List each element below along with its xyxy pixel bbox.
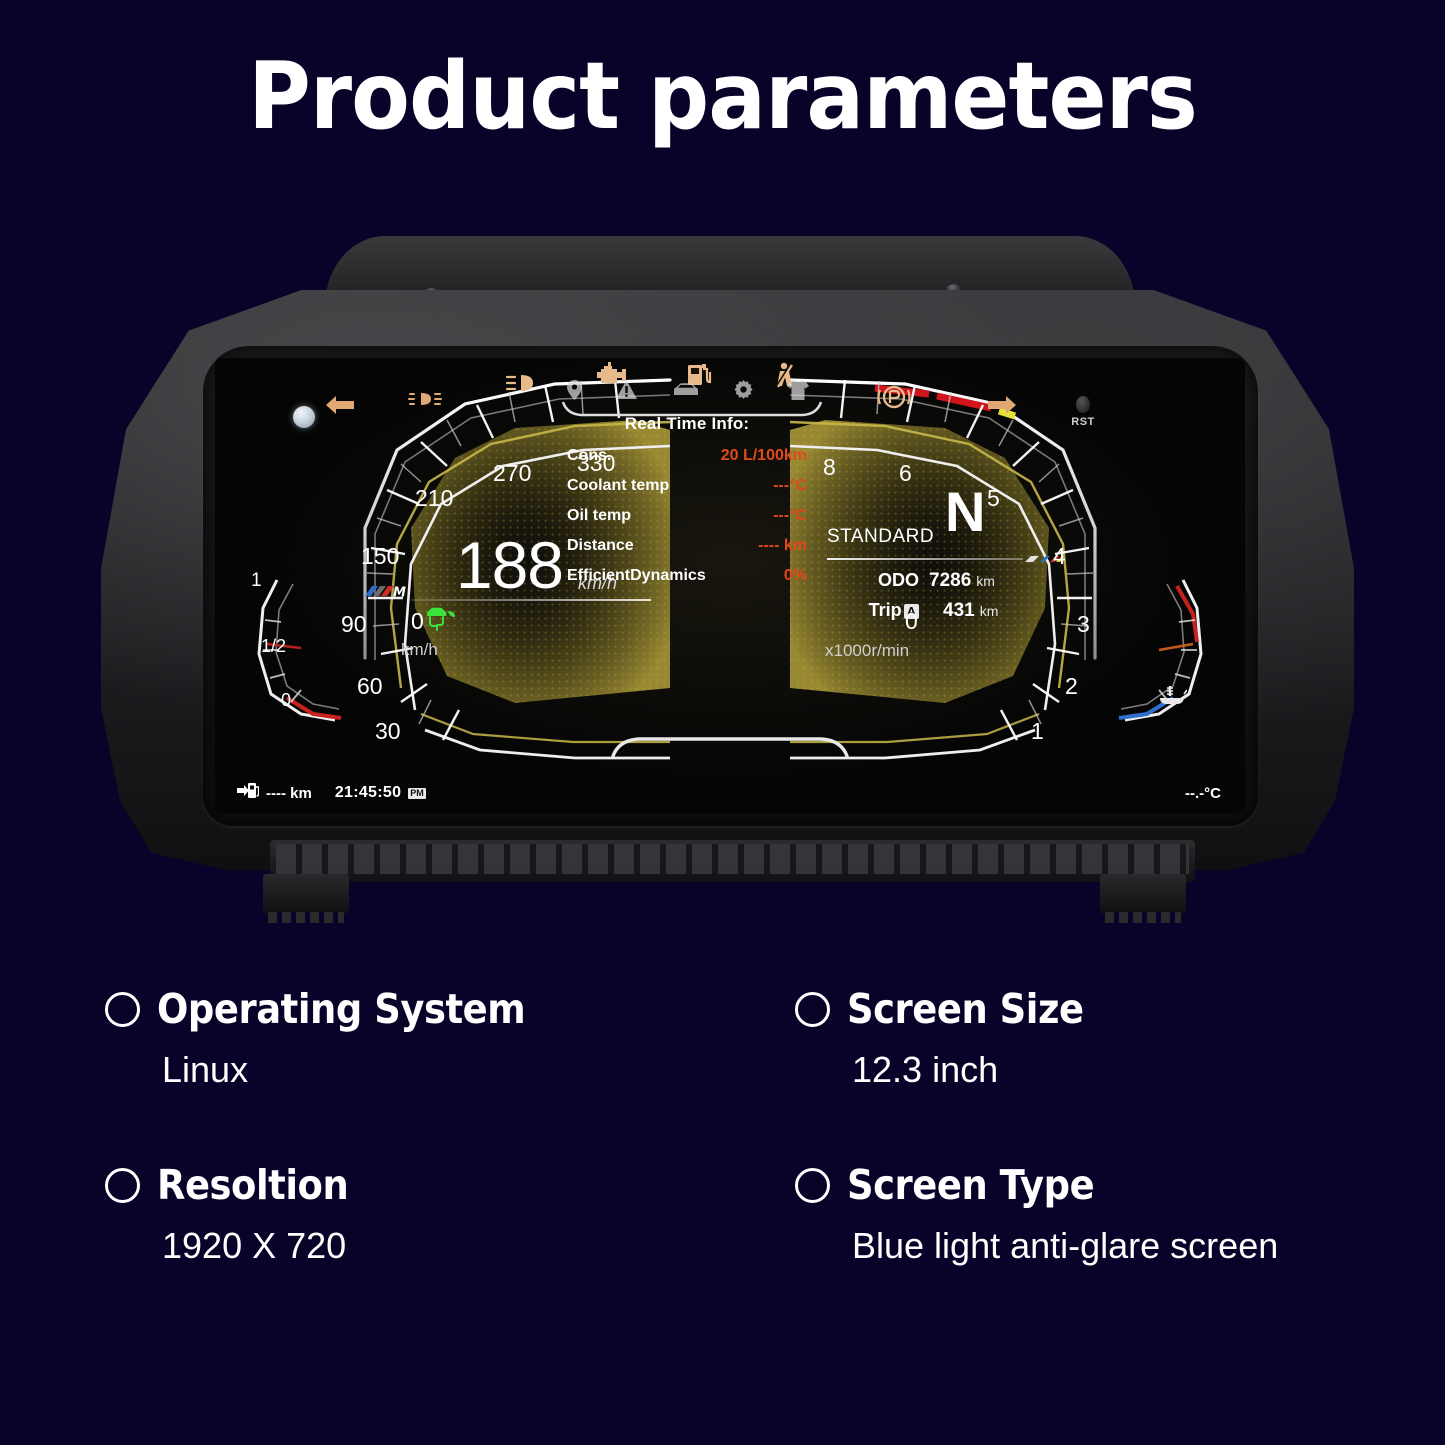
speed-tick-90: 90 [341, 611, 367, 638]
lcd-screen: RST 90 [215, 358, 1245, 813]
rpm-unit-label: x1000r/min [825, 641, 909, 661]
odometer-unit: km [976, 573, 995, 589]
page-title: Product parameters [58, 42, 1387, 150]
high-beam-icon [505, 372, 543, 394]
eco-car-icon [423, 605, 457, 636]
rti-row-cons: Cons. 20 L/100km [567, 447, 807, 465]
speed-value: 188 [456, 527, 563, 603]
spec-item-screen-type: Screen Type Blue light anti-glare screen [795, 1161, 1445, 1267]
rti-value-distance: ---- km [758, 537, 807, 555]
odometer-value: 7286 [929, 570, 971, 592]
location-pin-icon[interactable] [567, 380, 582, 405]
car-icon[interactable] [672, 382, 700, 403]
rpm-tick-8: 8 [823, 454, 836, 481]
rti-row-coolant-temp: Coolant temp ---°C [567, 477, 807, 495]
spec-item-resolution: Resoltion 1920 X 720 [105, 1161, 795, 1267]
spec-value-screen-size: 12.3 inch [852, 1049, 1445, 1091]
speed-tick-270: 270 [493, 460, 531, 487]
outside-temperature: --.-°C [1185, 785, 1221, 802]
rti-row-oil-temp: Oil temp ---°C [567, 507, 807, 525]
real-time-info-panel: Real Time Info: Cons. 20 L/100km Coolant… [567, 414, 807, 597]
status-bar-left: ---- km 21:45:50 PM [237, 782, 426, 804]
spec-item-operating-system: Operating System Linux [105, 985, 795, 1091]
fuel-tick-full: 1 [251, 570, 262, 592]
parking-brake-icon [877, 384, 911, 410]
speed-tick-60: 60 [357, 673, 383, 700]
connector-strip [270, 840, 1195, 882]
fog-light-icon [407, 388, 447, 410]
reset-button[interactable] [1076, 396, 1090, 413]
cluster-housing: RST 90 [95, 228, 1360, 888]
spec-item-screen-size: Screen Size 12.3 inch [795, 985, 1445, 1091]
instrument-cluster-product-image: RST 90 [95, 228, 1360, 928]
trip-label: Trip [869, 600, 902, 621]
trip-row: Trip A 431 km [827, 600, 1032, 622]
clock-time: 21:45:50 [335, 784, 401, 802]
menu-icon-row[interactable] [567, 380, 809, 404]
specs-section: Operating System Linux Screen Size 12.3 … [0, 985, 1445, 1267]
svg-text:M: M [393, 586, 406, 601]
trip-value: 431 [943, 600, 975, 622]
rti-label-efficient-dynamics: EfficientDynamics [567, 567, 706, 585]
connector-ribs [276, 844, 1189, 874]
drive-mode-label: STANDARD [827, 526, 934, 548]
rti-row-distance: Distance ---- km [567, 537, 807, 555]
rti-label-distance: Distance [567, 537, 634, 555]
speed-divider [411, 599, 651, 601]
spec-title-screen-size: Screen Size [847, 985, 1084, 1033]
spec-title-screen-type: Screen Type [847, 1161, 1094, 1209]
rpm-tick-5: 5 [987, 485, 1000, 512]
circle-bullet-icon [105, 992, 140, 1027]
fuel-tick-empty: 0 [281, 690, 291, 711]
spec-title-operating-system: Operating System [157, 985, 525, 1033]
speed-scale-unit: km/h [401, 640, 438, 660]
rti-label-coolant-temp: Coolant temp [567, 477, 669, 495]
spec-title-resolution: Resoltion [157, 1161, 348, 1209]
bmw-m-logo: M [365, 583, 413, 600]
turn-right-icon [985, 394, 1019, 416]
fuel-tick-half: 1/2 [261, 636, 286, 657]
gear-indicator: N [945, 484, 985, 540]
mounting-tab-right [1100, 874, 1186, 914]
rpm-tick-4: 4 [1053, 543, 1066, 570]
gear-icon[interactable] [734, 380, 753, 404]
spec-value-operating-system: Linux [162, 1049, 795, 1091]
rti-label-cons: Cons. [567, 447, 611, 465]
rti-value-coolant-temp: ---°C [773, 477, 807, 495]
rti-label-oil-temp: Oil temp [567, 507, 631, 525]
light-sensor [293, 406, 315, 428]
circle-bullet-icon [795, 1168, 830, 1203]
mounting-tab-left [263, 874, 349, 914]
rti-value-oil-temp: ---°C [773, 507, 807, 525]
warning-triangle-icon[interactable] [616, 380, 637, 404]
status-bar: ---- km 21:45:50 PM --.-°C [215, 779, 1245, 807]
speed-tick-210: 210 [415, 485, 453, 512]
rti-value-efficient-dynamics: 0% [784, 567, 807, 585]
fuel-range-value: ---- km [266, 785, 312, 802]
circle-bullet-icon [795, 992, 830, 1027]
clock-ampm: PM [408, 788, 426, 799]
turn-left-icon [323, 394, 357, 416]
spec-value-screen-type: Blue light anti-glare screen [852, 1225, 1445, 1267]
reset-button-label: RST [1060, 416, 1106, 428]
oil-temperature-icon [1157, 684, 1187, 713]
rpm-tick-3: 3 [1077, 611, 1090, 638]
speed-zero-label: 0 [411, 608, 424, 635]
shirt-icon[interactable] [787, 380, 809, 405]
odometer-label: ODO [827, 570, 929, 591]
rpm-tick-1: 1 [1031, 718, 1044, 745]
rti-row-efficient-dynamics: EfficientDynamics 0% [567, 567, 807, 585]
speed-tick-30: 30 [375, 718, 401, 745]
circle-bullet-icon [105, 1168, 140, 1203]
right-info-divider [827, 558, 1023, 560]
fuel-range-icon [237, 782, 259, 804]
rpm-tick-2: 2 [1065, 673, 1078, 700]
rpm-zero-label: 0 [905, 608, 918, 635]
rti-value-cons: 20 L/100km [721, 447, 807, 465]
spec-value-resolution: 1920 X 720 [162, 1225, 795, 1267]
real-time-info-title: Real Time Info: [567, 414, 807, 434]
odometer-row: ODO 7286 km [827, 570, 1032, 592]
rpm-tick-6: 6 [899, 460, 912, 487]
trip-unit: km [980, 603, 999, 619]
